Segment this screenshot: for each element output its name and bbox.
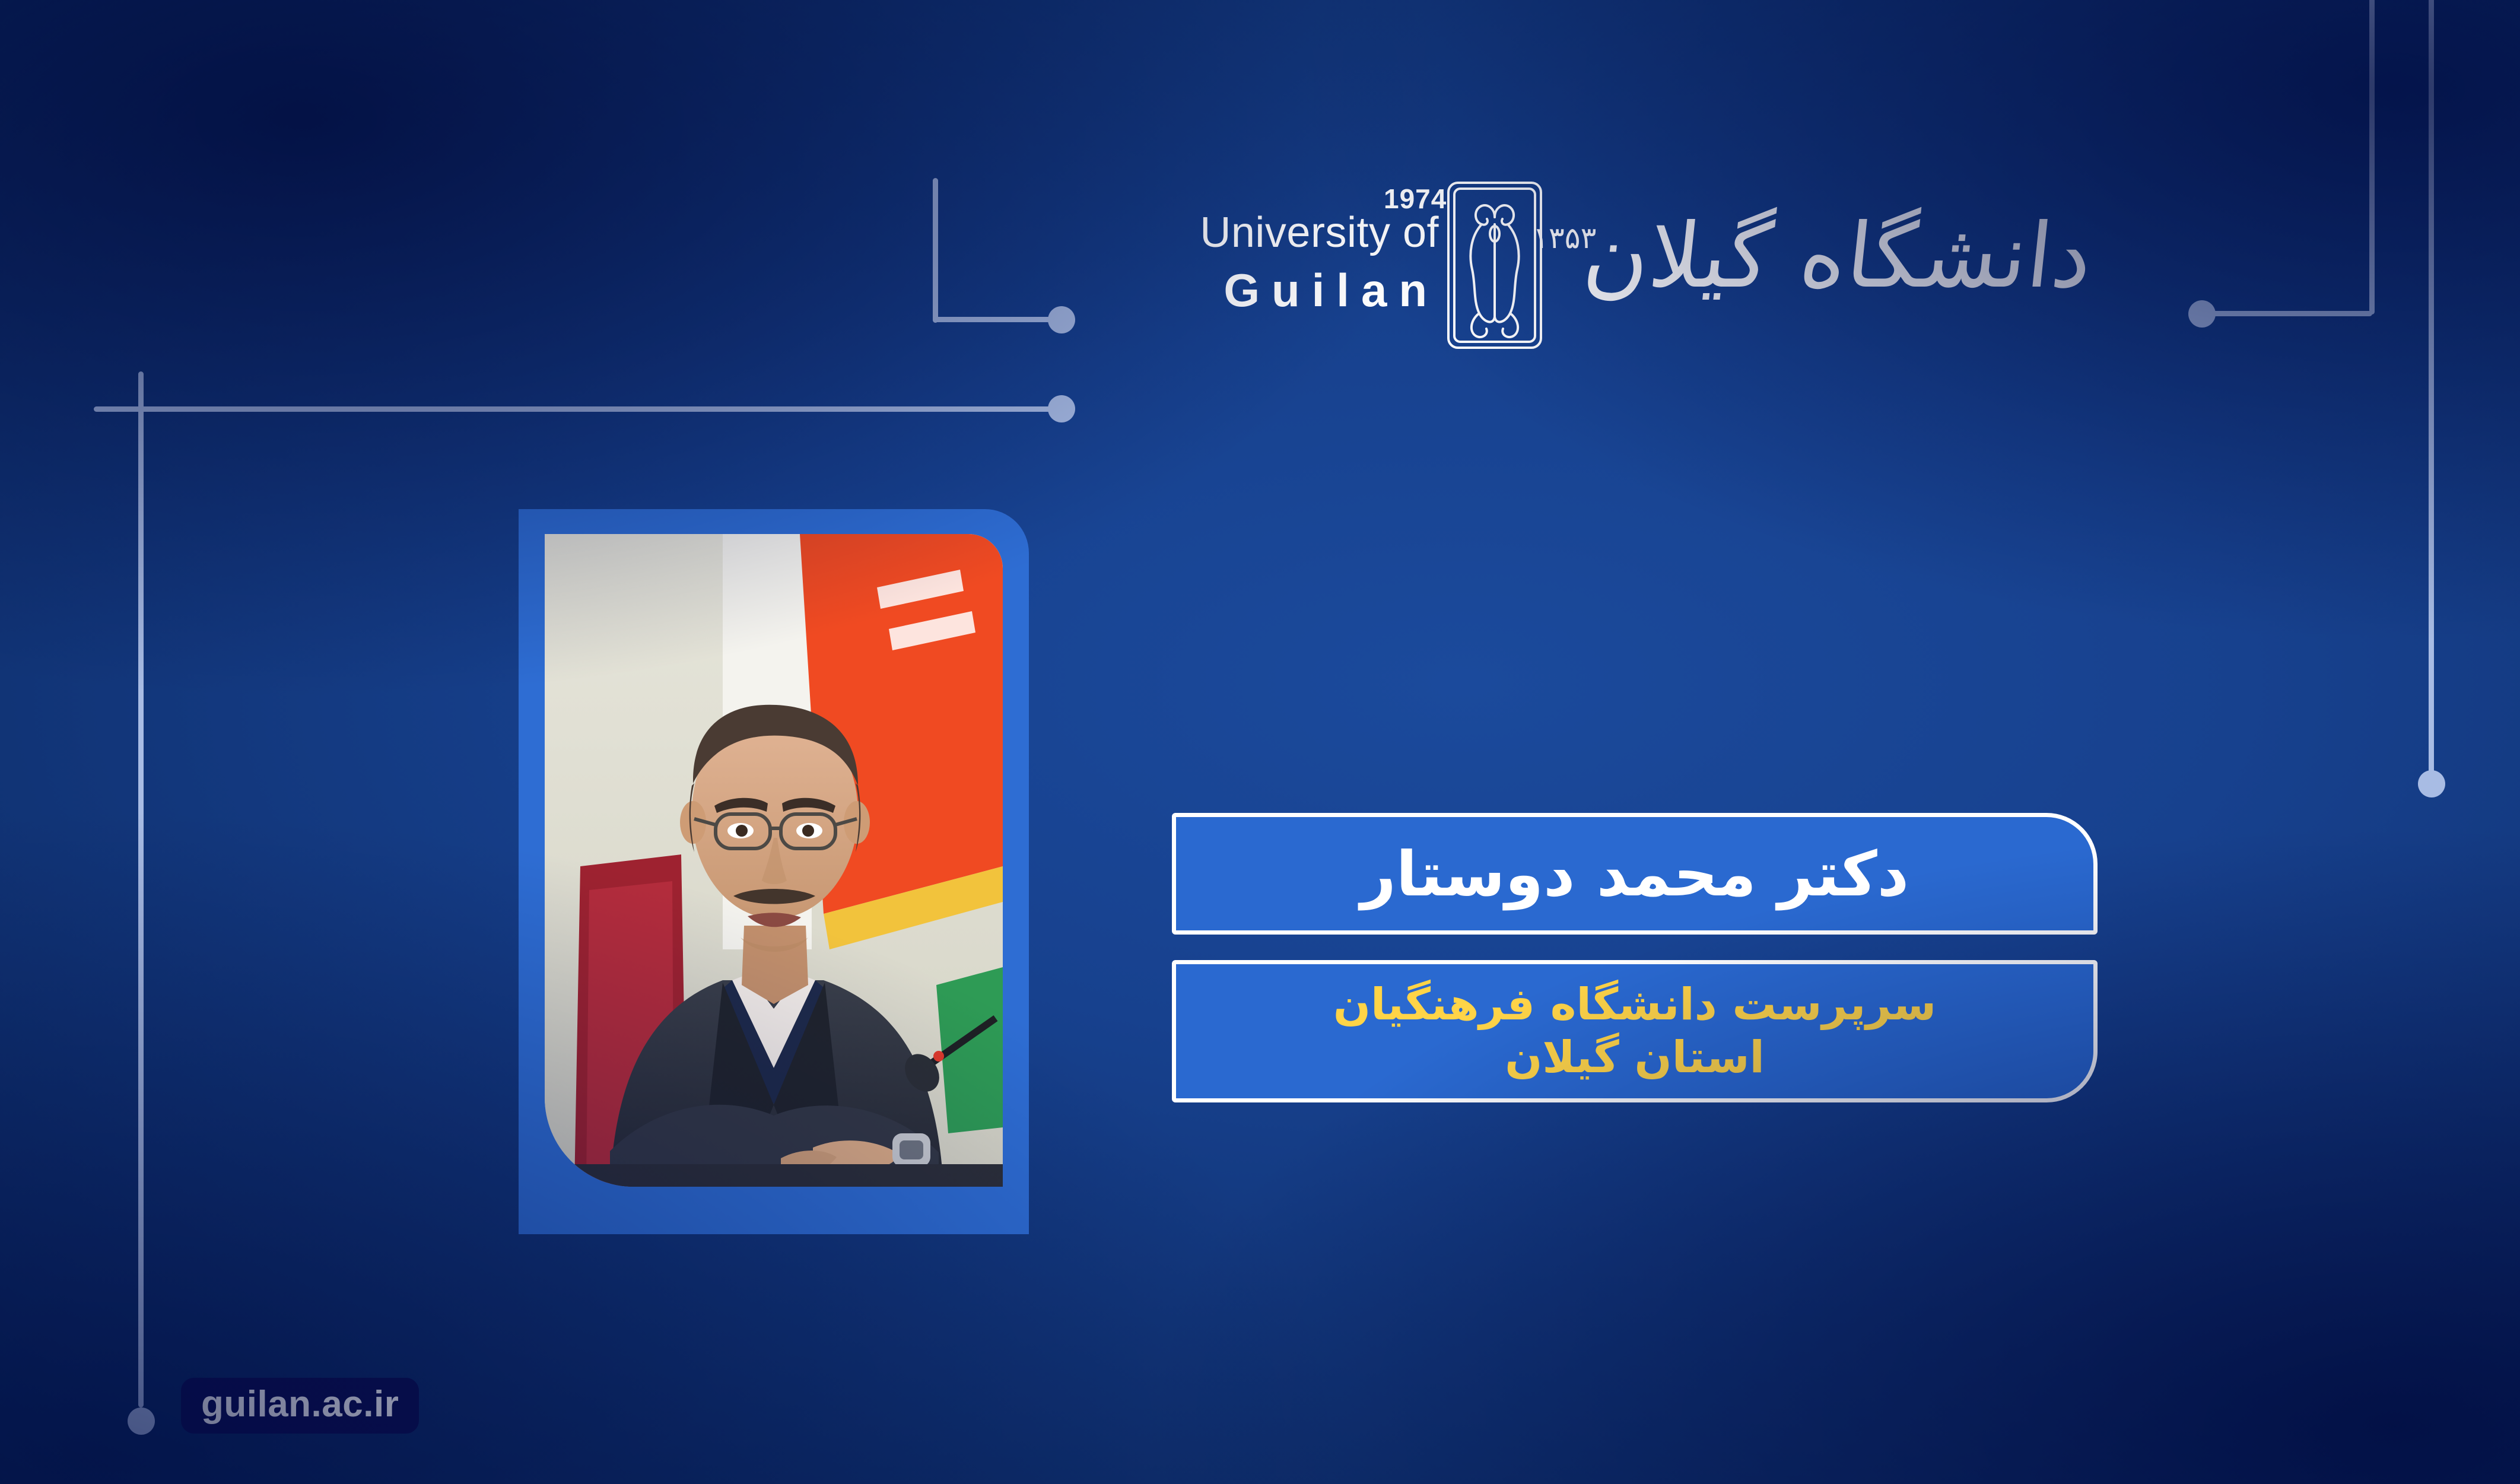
person-name-banner: دکتر محمد دوستار: [1172, 813, 2098, 935]
decor-vline-upper-right: [2369, 0, 2375, 314]
decor-hline-long: [94, 406, 1070, 412]
portrait-illustration: [545, 534, 1003, 1187]
poster-background: University of Guilan 1974 ۱۳۵۳ دانشگاه گ…: [0, 0, 2520, 1484]
decor-hline-upper-right: [2199, 311, 2372, 316]
decor-vline-left-long: [138, 371, 144, 1407]
decor-dot-upper-right: [2188, 300, 2216, 328]
person-name: دکتر محمد دوستار: [1361, 843, 1909, 905]
decor-dot-bottom-left: [128, 1407, 155, 1435]
decor-dot-upper: [1048, 306, 1075, 333]
university-logo: University of Guilan 1974 ۱۳۵۳ دانشگاه گ…: [1160, 196, 2092, 368]
person-title-line1: سرپرست دانشگاه فرهنگیان: [1333, 980, 1936, 1029]
person-title-line2: استان گیلان: [1505, 1033, 1765, 1082]
website-url: guilan.ac.ir: [201, 1386, 399, 1423]
logo-english-line2: Guilan: [1160, 267, 1439, 313]
decor-vline-upper-left: [933, 178, 938, 323]
portrait-frame: [519, 509, 1029, 1234]
logo-english-text: University of Guilan: [1160, 211, 1439, 313]
person-title-banner: سرپرست دانشگاه فرهنگیان استان گیلان: [1172, 960, 2098, 1102]
decor-vline-right-long: [2429, 0, 2434, 783]
decor-dot-long-hline: [1048, 395, 1075, 422]
logo-english-line1: University of: [1160, 211, 1439, 254]
decor-dot-right-long: [2418, 770, 2445, 797]
guilan-university-emblem-icon: [1445, 179, 1545, 351]
logo-year-gregorian: 1974: [1384, 183, 1447, 215]
logo-persian-name: دانشگاه گیلان: [1574, 190, 2099, 323]
avatar: [545, 534, 1003, 1187]
website-url-badge[interactable]: guilan.ac.ir: [181, 1378, 419, 1434]
